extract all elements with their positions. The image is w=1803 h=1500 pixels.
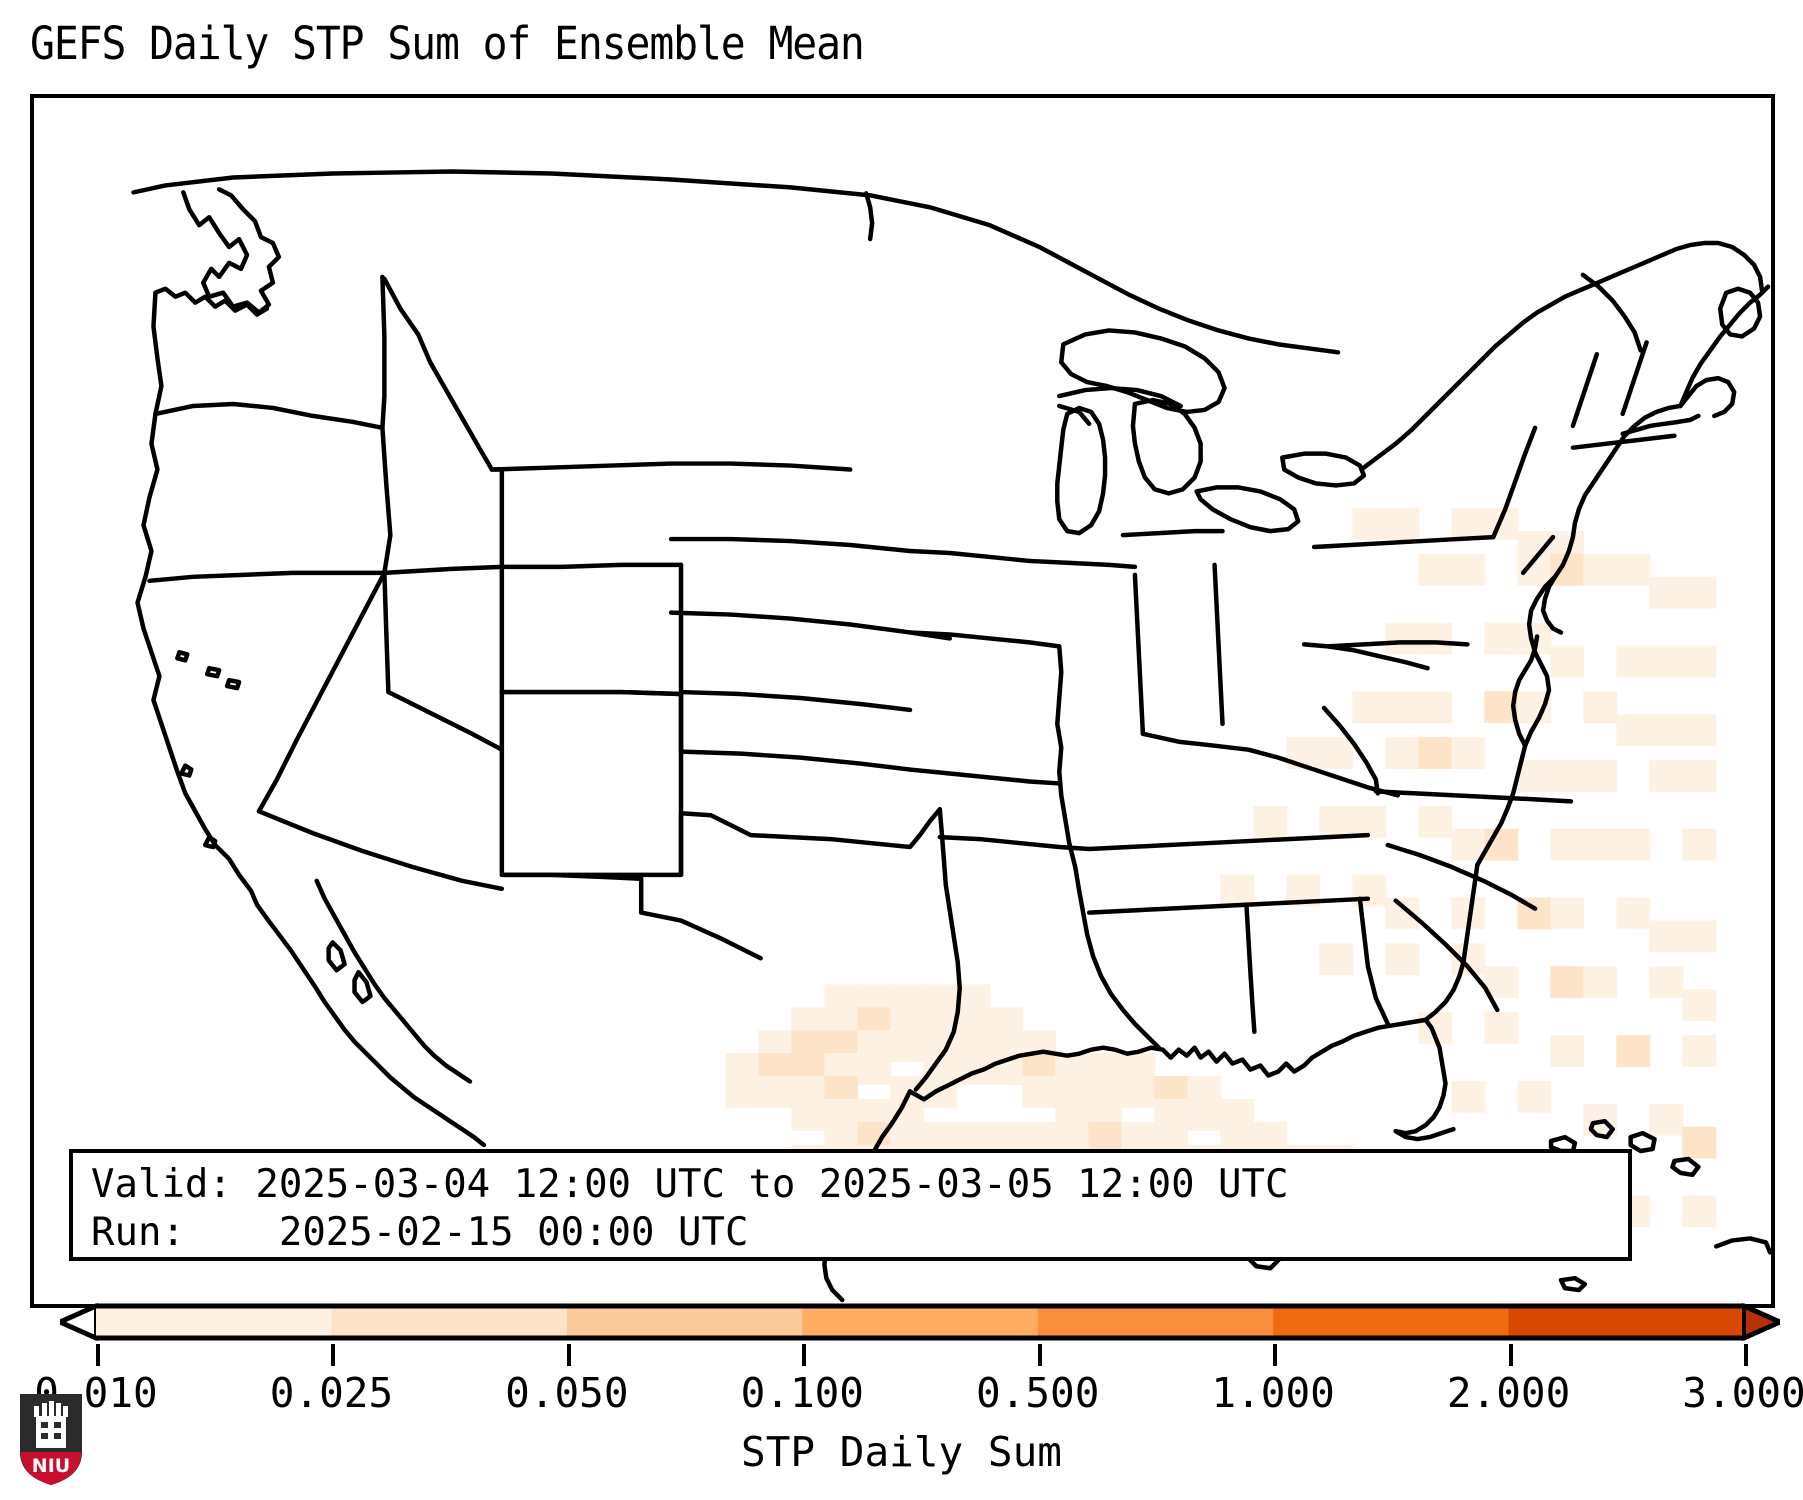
stp-cell (857, 1053, 891, 1085)
colorbar-tick-label-7: 3.000 (1682, 1370, 1803, 1416)
stp-cell (1649, 920, 1683, 952)
stp-cell (1649, 760, 1683, 792)
stp-cell (1484, 623, 1518, 655)
stp-cell (1187, 1099, 1221, 1131)
stp-cell (1418, 1012, 1452, 1044)
stp-cell (1583, 691, 1617, 723)
map-path (56, 1403, 61, 1417)
stp-cell (1385, 508, 1419, 540)
colorbar-segment-6 (1509, 1306, 1745, 1338)
stp-cell (1616, 714, 1650, 746)
stp-cell (1682, 1127, 1716, 1159)
map-path (36, 1416, 66, 1448)
stp-cell (1418, 554, 1452, 586)
stp-cell (1484, 1012, 1518, 1044)
map-path (41, 1433, 48, 1439)
stp-cell (890, 1030, 924, 1062)
stp-cell (1583, 966, 1617, 998)
colorbar-swatches (60, 1300, 1780, 1344)
colorbar-tick-mark-2 (567, 1344, 571, 1366)
stp-cell (1550, 829, 1584, 861)
stp-cell (1385, 943, 1419, 975)
page-title: GEFS Daily STP Sum of Ensemble Mean (30, 16, 864, 72)
stp-cell (1286, 875, 1320, 907)
map-canvas (34, 98, 1771, 1304)
stp-cell (1319, 737, 1353, 769)
stp-cell (1550, 646, 1584, 678)
colorbar-segment-4 (1038, 1306, 1274, 1338)
stp-cell (1649, 966, 1683, 998)
colorbar-tick-mark-7 (1744, 1344, 1748, 1366)
colorbar-axis-label: STP Daily Sum (0, 1428, 1803, 1476)
stp-cell (1418, 691, 1452, 723)
stp-cell (1352, 806, 1386, 838)
map-path (54, 1422, 61, 1428)
valid-time-line: Valid: 2025-03-04 12:00 UTC to 2025-03-0… (91, 1161, 1628, 1209)
stp-cell (1517, 554, 1551, 586)
niu-logo: NIU (16, 1390, 86, 1488)
stp-cell (1220, 875, 1254, 907)
stp-cell (1451, 1081, 1485, 1113)
stp-cell (791, 1099, 825, 1131)
stp-data-overlay (34, 98, 1771, 1304)
stp-cell (1682, 1195, 1716, 1227)
colorbar-tick-label-3: 0.100 (741, 1370, 864, 1416)
stp-cell (1682, 989, 1716, 1021)
stp-cell (1319, 943, 1353, 975)
stp-cell (725, 1076, 759, 1108)
stp-cell (1550, 898, 1584, 930)
colorbar-tick-mark-4 (1038, 1344, 1042, 1366)
niu-logo-text: NIU (32, 1455, 70, 1477)
stp-cell (1517, 691, 1551, 723)
map-path (41, 1422, 48, 1428)
stp-cell (1616, 646, 1650, 678)
stp-cell (1517, 623, 1551, 655)
stp-cell (1682, 760, 1716, 792)
colorbar-segment-3 (802, 1306, 1038, 1338)
stp-cell (1451, 508, 1485, 540)
stp-cell (1517, 1081, 1551, 1113)
stp-cell (1517, 760, 1551, 792)
stp-cell (1682, 1035, 1716, 1067)
stp-cell (1352, 508, 1386, 540)
stp-cell (1451, 554, 1485, 586)
stp-cell (956, 1053, 990, 1085)
stp-cell (758, 1076, 792, 1108)
stp-cell (1583, 554, 1617, 586)
stp-cell (1682, 920, 1716, 952)
run-time-line: Run: 2025-02-15 00:00 UTC (91, 1209, 1628, 1257)
colorbar-segment-2 (567, 1306, 803, 1338)
stp-cell (1385, 737, 1419, 769)
stp-cell (1616, 898, 1650, 930)
colorbar-tick-mark-1 (331, 1344, 335, 1366)
colorbar-tick-label-6: 2.000 (1447, 1370, 1570, 1416)
colorbar-tick-label-1: 0.025 (270, 1370, 393, 1416)
colorbar-tick-mark-5 (1273, 1344, 1277, 1366)
stp-cell (1616, 1035, 1650, 1067)
stp-cell (1682, 714, 1716, 746)
colorbar-tick-mark-6 (1509, 1344, 1513, 1366)
stp-cell (1649, 577, 1683, 609)
colorbar-segment-1 (331, 1306, 567, 1338)
stp-cell (1418, 737, 1452, 769)
colorbar-tick-labels: 0.0100.0250.0500.1000.5001.0002.0003.000 (0, 1370, 1803, 1420)
stp-cell (1517, 898, 1551, 930)
stp-cell (1451, 943, 1485, 975)
stp-cell (1682, 646, 1716, 678)
stp-cell (1550, 1035, 1584, 1067)
stp-cell (1253, 806, 1287, 838)
stp-cell (1484, 966, 1518, 998)
stp-cell (989, 1053, 1023, 1085)
stp-cell (1649, 646, 1683, 678)
colorbar-tick-label-5: 1.000 (1211, 1370, 1334, 1416)
stp-cell (923, 1076, 957, 1108)
stp-cell (1385, 898, 1419, 930)
colorbar-segment-0 (96, 1306, 332, 1338)
stp-cell (1682, 577, 1716, 609)
stp-cell (1550, 760, 1584, 792)
stp-cell (1352, 691, 1386, 723)
colorbar-tick-label-4: 0.500 (976, 1370, 1099, 1416)
map-path (34, 1406, 39, 1417)
stp-cell (1550, 966, 1584, 998)
stp-cell (1649, 1104, 1683, 1136)
map-path (42, 1403, 47, 1417)
stp-cell (1121, 1076, 1155, 1108)
stp-cell (1418, 806, 1452, 838)
stp-cell (1385, 623, 1419, 655)
stp-cell (1616, 554, 1650, 586)
colorbar-tick-mark-0 (96, 1344, 100, 1366)
stp-cell (1583, 760, 1617, 792)
stp-cell (1286, 737, 1320, 769)
colorbar-segment-5 (1273, 1306, 1509, 1338)
stp-cell (1484, 508, 1518, 540)
stp-cell (1451, 737, 1485, 769)
map-path (54, 1433, 61, 1439)
stp-cell (1451, 829, 1485, 861)
colorbar-tick-mark-3 (802, 1344, 806, 1366)
stp-cell (1682, 829, 1716, 861)
stp-cell (1352, 875, 1386, 907)
stp-cell (1484, 691, 1518, 723)
stp-cell (1022, 1076, 1056, 1108)
stp-cell (1385, 691, 1419, 723)
map-path (49, 1401, 54, 1417)
stp-cell (1616, 829, 1650, 861)
map-panel: Valid: 2025-03-04 12:00 UTC to 2025-03-0… (30, 94, 1775, 1308)
forecast-info-box: Valid: 2025-03-04 12:00 UTC to 2025-03-0… (69, 1149, 1632, 1261)
stp-cell (1649, 714, 1683, 746)
stp-cell (1418, 623, 1452, 655)
stp-cell (1550, 554, 1584, 586)
stp-cell (1451, 898, 1485, 930)
colorbar (60, 1300, 1780, 1344)
stp-cell (1319, 806, 1353, 838)
map-path (63, 1406, 68, 1417)
stp-cell (1583, 1104, 1617, 1136)
colorbar-tick-label-2: 0.050 (505, 1370, 628, 1416)
stp-cell (1484, 829, 1518, 861)
stp-cell (1583, 829, 1617, 861)
